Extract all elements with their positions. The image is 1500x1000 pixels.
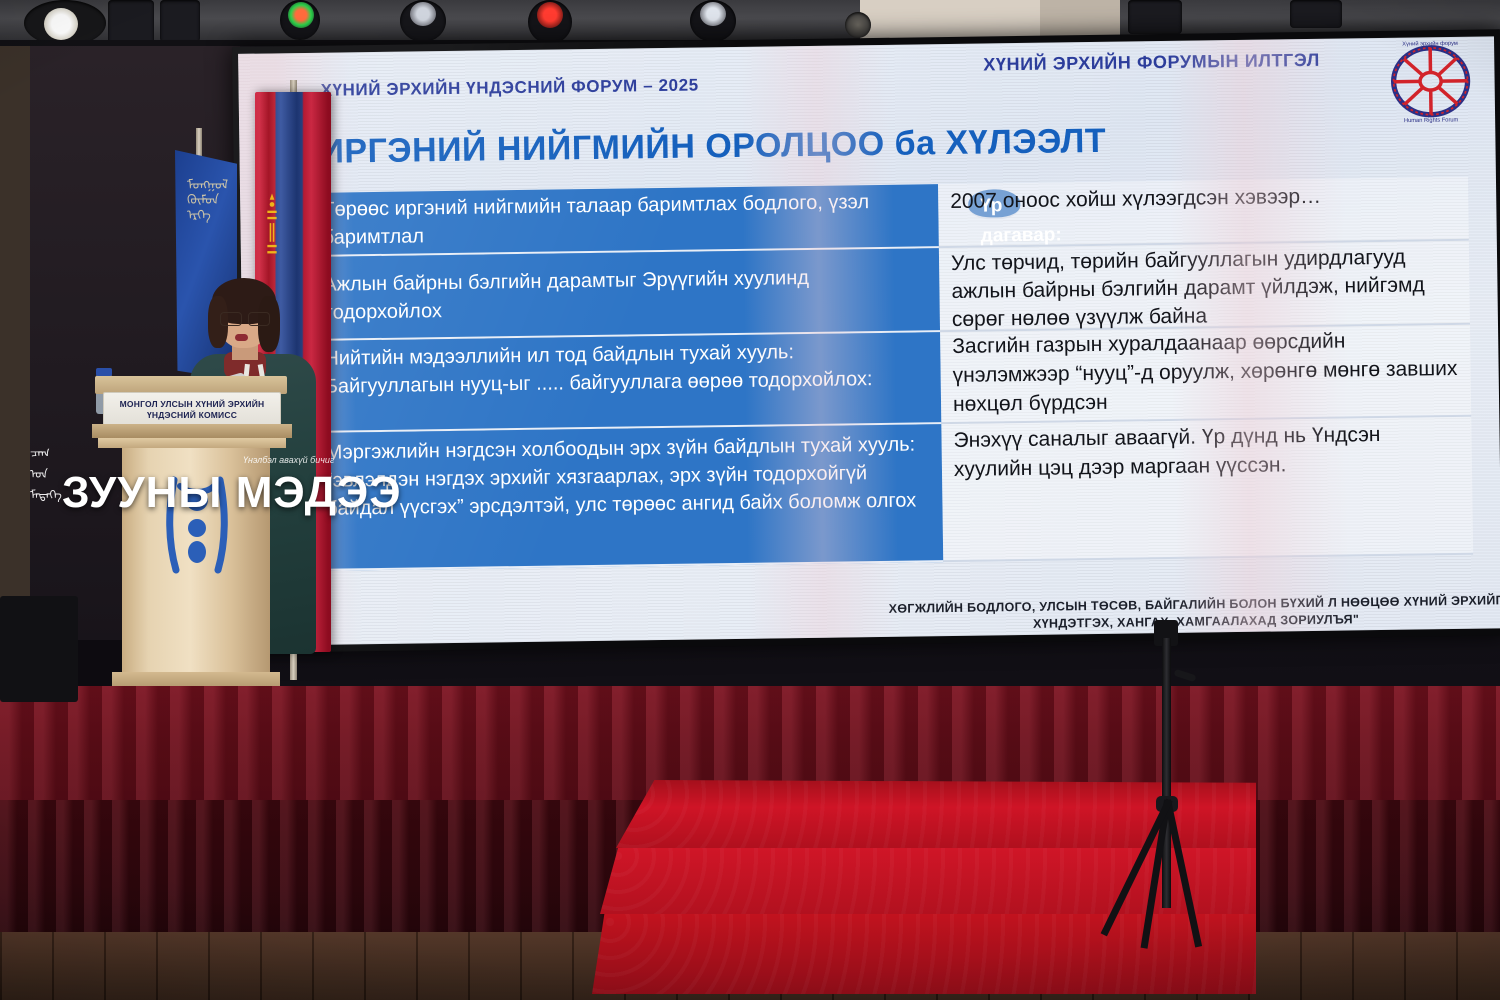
table-row: Мэргэжлийн нэгдсэн холбоодын эрх зүйн ба… <box>311 424 943 571</box>
slide-header-left: ХҮНИЙ ЭРХИЙН ҮНДЭСНИЙ ФОРУМ – 2025 <box>320 75 698 100</box>
stage-light-fixture <box>108 0 154 44</box>
news-watermark-subtext: Үнэлбэл авахүй бичиг <box>243 455 334 465</box>
speaker-mouth <box>235 334 248 341</box>
flag-script-text: ᠮᠣᠩᠭᠣᠯᠬᠦᠮᠦᠨᠡᠷᠬᠡ <box>187 178 228 223</box>
slide-header-right: ХҮНИЙ ЭРХИЙН ФОРУМЫН ИЛТГЭЛ <box>983 50 1320 76</box>
water-bottle-cap <box>96 368 112 376</box>
table-row: Засгийн газрын хуралдаанаар өөрсдийн үнэ… <box>940 325 1471 424</box>
table-row: Улс төрчид, төрийн байгууллагын удирдлаг… <box>939 241 1470 332</box>
table-row: 2007 оноос хойш хүлээгдсэн хэвээр… <box>938 177 1469 248</box>
led-par-glow <box>537 2 563 28</box>
news-watermark: ЗУУНЫ МЭДЭЭ <box>62 468 402 518</box>
presentation-slide: ХҮНИЙ ЭРХИЙН ҮНДЭСНИЙ ФОРУМ – 2025 ХҮНИЙ… <box>238 36 1500 645</box>
led-par-glow <box>410 2 436 26</box>
table-row: Энэхүү саналыг аваагүй. Үр дүнд нь Үндсэ… <box>941 417 1473 562</box>
led-par-glow <box>288 2 314 28</box>
spotlight-lens <box>44 8 78 40</box>
led-par-glow <box>700 2 726 26</box>
camera-tripod-stand <box>1128 620 1218 950</box>
podium-sign-line-2: ҮНДЭСНИЙ КОМИСС <box>147 410 237 420</box>
table-column-results: Үр дагавар: 2007 оноос хойш хүлээгдсэн х… <box>938 177 1474 594</box>
podium-lip-lower <box>98 438 286 448</box>
podium-sign: МОНГОЛ УЛСЫН ХҮНИЙ ЭРХИЙН ҮНДЭСНИЙ КОМИС… <box>103 392 281 428</box>
podium-lip <box>92 424 292 438</box>
stage-light-fixture <box>1128 0 1182 34</box>
floor-monitor-speaker <box>0 596 78 702</box>
table-column-issues: Хөндсөн асуудал Төрөөс иргэний нийгмийн … <box>308 184 944 603</box>
slide-title: ИРГЭНИЙ НИЙГМИЙН ОРОЛЦОО ба ХҮЛЭЭЛТ <box>319 122 1106 172</box>
soyombo-symbol <box>264 192 280 262</box>
slide-table: Хөндсөн асуудал Төрөөс иргэний нийгмийн … <box>308 177 1474 603</box>
stage-light-fixture <box>160 0 200 42</box>
svg-text:Human Rights Forum: Human Rights Forum <box>1404 117 1459 124</box>
podium-sign-text: МОНГОЛ УЛСЫН ХҮНИЙ ЭРХИЙН ҮНДЭСНИЙ КОМИС… <box>120 399 265 421</box>
table-row: Нийтийн мэдээллийн ил тод байдлын тухай … <box>310 332 941 433</box>
svg-text:Хүний эрхийн форум: Хүний эрхийн форум <box>1402 40 1458 48</box>
left-wall-wood-strip <box>0 46 30 686</box>
tripod-center-column <box>1162 638 1171 908</box>
podium-sign-line-1: МОНГОЛ УЛСЫН ХҮНИЙ ЭРХИЙН <box>120 399 265 409</box>
conference-hall-photo: ХҮНИЙ ЭРХИЙН ҮНДЭСНИЙ ФОРУМ – 2025 ХҮНИЙ… <box>0 0 1500 1000</box>
table-row: Ажлын байрны бэлгийн дарамтыг Эрүүгийн х… <box>309 248 940 341</box>
speaker-glasses <box>220 312 268 324</box>
ceiling-speaker <box>845 12 871 38</box>
led-presentation-screen: ХҮНИЙ ЭРХИЙН ҮНДЭСНИЙ ФОРУМ – 2025 ХҮНИЙ… <box>232 29 1500 653</box>
stage-light-fixture <box>1290 0 1342 28</box>
tripod-adjust-knob <box>1173 669 1196 682</box>
table-row: Төрөөс иргэний нийгмийн талаар баримтлах… <box>308 184 939 257</box>
human-rights-forum-wheel-logo: Хүний эрхийн форум Human Rights Forum <box>1386 37 1475 126</box>
